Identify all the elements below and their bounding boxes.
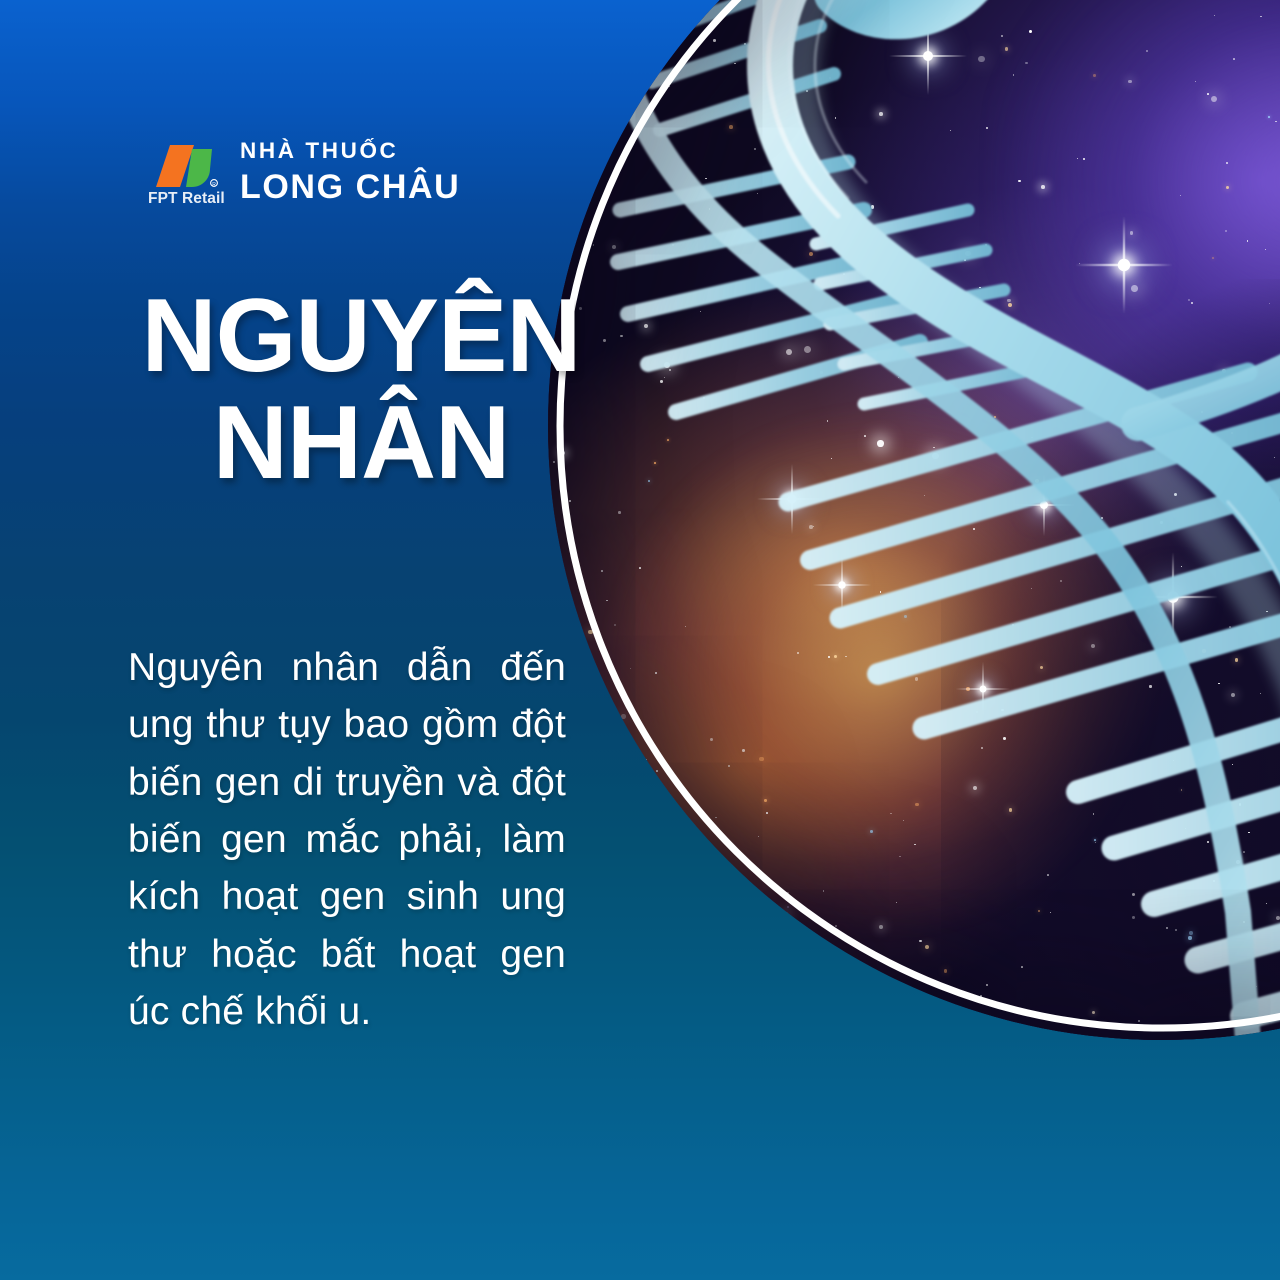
brand-line-1: NHÀ THUỐC — [240, 140, 460, 163]
fpt-long-chau-logo-icon: R FPT Retail — [148, 143, 220, 201]
brand-line-2: LONG CHÂU — [240, 170, 460, 204]
poster-canvas: (function(){ var host=document.currentSc… — [0, 0, 1280, 1280]
headline-line-2: NHÂN — [126, 393, 596, 494]
body-paragraph: Nguyên nhân dẫn đến ung thư tụy bao gồm … — [128, 639, 566, 1040]
brand-lockup: R FPT Retail NHÀ THUỐC LONG CHÂU — [148, 140, 460, 204]
fpt-retail-label: FPT Retail — [148, 190, 240, 208]
dna-space-photo: (function(){ var host=document.currentSc… — [548, 0, 1280, 1040]
headline-line-1: NGUYÊN — [126, 286, 596, 387]
svg-text:R: R — [212, 182, 216, 188]
page-title: NGUYÊN NHÂN — [126, 286, 596, 494]
brand-wordmark: NHÀ THUỐC LONG CHÂU — [240, 140, 460, 204]
